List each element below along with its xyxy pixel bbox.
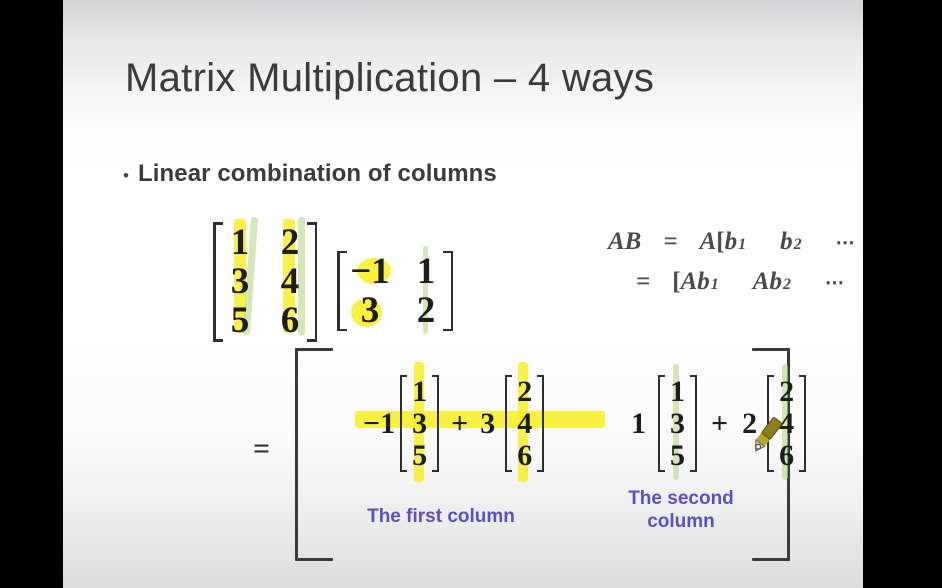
formula-equals-1: = (663, 228, 677, 256)
formula-open-bracket-1: [ (716, 228, 724, 256)
column2-coefficient-1: 1 (631, 407, 646, 441)
matrix-a-cell-r1c1: 1 (225, 223, 255, 262)
formula-a: A (700, 228, 717, 256)
column2-vector-1-cell-1: 1 (667, 376, 688, 408)
caption-second-column: The second column (601, 487, 761, 533)
matrix-b: −1 3 1 2 (337, 251, 453, 331)
formula-ab2-sub: 2 (783, 276, 791, 294)
column1-vector-2: 2 4 6 (505, 375, 544, 472)
matrix-b-right-bracket (443, 251, 453, 331)
matrix-b-cell-r1c2: 1 (411, 252, 441, 291)
column2-vector-2-right-bracket (799, 375, 806, 472)
matrix-a-cell-r3c1: 5 (225, 301, 255, 340)
column1-vector-2-cell-2: 4 (514, 408, 535, 440)
matrix-a-cell-r2c2: 4 (275, 262, 305, 301)
formula-ellipsis-2: ⋯ (825, 272, 846, 295)
matrix-b-column-2: 1 2 (411, 252, 441, 330)
result-open-bracket (295, 348, 333, 561)
column1-vector-2-cell-1: 2 (514, 376, 535, 408)
column1-vector-1: 1 3 5 (400, 375, 439, 472)
formula-lhs: AB (608, 228, 641, 256)
column2-vector-2-cell-1: 2 (776, 376, 797, 408)
matrix-a-column-2: 2 4 6 (275, 223, 305, 341)
matrix-a-left-bracket (213, 222, 223, 342)
formula-ab1: Ab (681, 268, 710, 296)
page-title: Matrix Multiplication – 4 ways (125, 56, 654, 101)
matrix-b-cell-r2c2: 2 (411, 291, 441, 330)
matrix-a-right-bracket (307, 222, 317, 342)
matrix-b-left-bracket (337, 251, 347, 331)
column2-vector-1: 1 3 5 (658, 375, 697, 472)
screen: Matrix Multiplication – 4 ways • Linear … (0, 0, 942, 588)
column1-vector-1-cell-2: 3 (409, 408, 430, 440)
column2-vector-1-cell-3: 5 (667, 440, 688, 472)
column1-vector-2-cell-3: 6 (514, 440, 535, 472)
formula-equals-2: = (636, 268, 650, 296)
column1-vector-1-left-bracket (400, 375, 407, 472)
slide-canvas: Matrix Multiplication – 4 ways • Linear … (63, 0, 863, 588)
formula-b2: b (780, 228, 793, 256)
bullet-marker-icon: • (123, 167, 129, 184)
letterbox-bar-right (863, 0, 942, 588)
pen-cursor-icon[interactable] (744, 412, 788, 458)
caption-first-column: The first column (346, 505, 536, 528)
column1-coefficient-2: 3 (480, 407, 495, 441)
column2-vector-1-left-bracket (658, 375, 665, 472)
matrix-b-cell-r2c1: 3 (349, 291, 391, 330)
matrix-a-cell-r3c2: 6 (275, 301, 305, 340)
matrix-a: 1 3 5 2 4 6 (213, 222, 317, 342)
column1-vector-1-cell-1: 1 (409, 376, 430, 408)
formula-ab2: Ab (753, 268, 782, 296)
column1-vector-2-right-bracket (537, 375, 544, 472)
matrix-a-column-1: 1 3 5 (225, 223, 255, 341)
formula-ellipsis-1: ⋯ (836, 232, 857, 255)
formula-line-1: AB = A [ b1 b2 ⋯ bp ] (608, 228, 863, 256)
column1-coefficient-1: −1 (363, 407, 395, 441)
column1-operator: + (451, 407, 468, 441)
column1-vector-2-body: 2 4 6 (514, 376, 535, 471)
matrix-a-cell-r1c2: 2 (275, 223, 305, 262)
column1-vector-1-cell-3: 5 (409, 440, 430, 472)
result-column-1-expression: −1 1 3 5 + 3 (363, 375, 544, 472)
formula-b2-sub: 2 (794, 236, 802, 254)
formula-b1: b (725, 228, 738, 256)
column1-vector-1-right-bracket (432, 375, 439, 472)
bullet-item: • Linear combination of columns (123, 160, 497, 188)
column2-vector-1-right-bracket (690, 375, 697, 472)
formula-b1-sub: 1 (738, 236, 746, 254)
column2-vector-1-body: 1 3 5 (667, 376, 688, 471)
result-equals-sign: = (253, 432, 270, 466)
column1-vector-1-body: 1 3 5 (409, 376, 430, 471)
column2-vector-1-cell-2: 3 (667, 408, 688, 440)
matrix-a-cell-r2c1: 3 (225, 262, 255, 301)
formula-block: AB = A [ b1 b2 ⋯ bp ] = [ Ab1 (608, 228, 863, 296)
column2-operator: + (711, 407, 728, 441)
matrix-b-column-1: −1 3 (349, 252, 391, 330)
column1-vector-2-left-bracket (505, 375, 512, 472)
bullet-label: Linear combination of columns (138, 160, 497, 188)
matrix-b-cell-r1c1: −1 (349, 252, 391, 291)
formula-line-2: = [ Ab1 Ab2 ⋯ Abp ] (608, 268, 863, 296)
letterbox-bar-left (0, 0, 63, 588)
top-expression: 1 3 5 2 4 6 (213, 222, 453, 342)
formula-ab1-sub: 1 (711, 276, 719, 294)
formula-open-bracket-2: [ (672, 268, 680, 296)
